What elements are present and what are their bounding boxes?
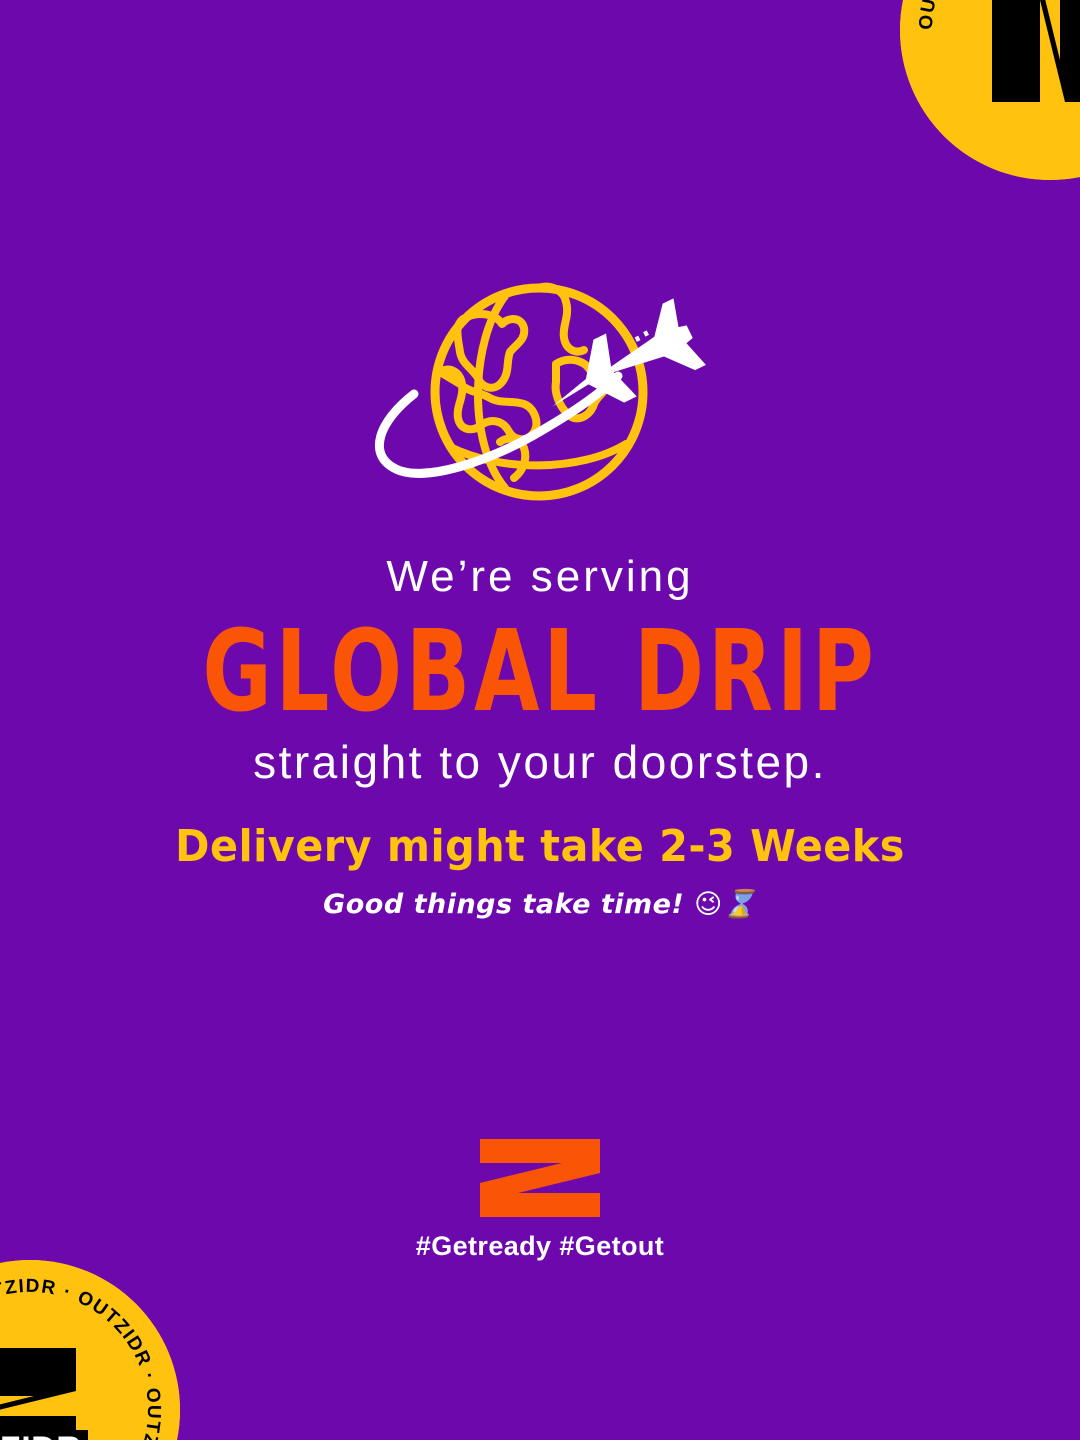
headline-main: GLOBAL DRIP [43, 611, 1037, 732]
globe-continent-west [440, 370, 536, 440]
headline-block: We’re serving GLOBAL DRIP straight to yo… [0, 552, 1080, 789]
delivery-notice: Delivery might take 2-3 Weeks Good thing… [0, 822, 1080, 921]
delivery-subtitle: Good things take time! 😉⌛ [0, 889, 1080, 921]
brand-logo-z [478, 1137, 602, 1219]
promo-poster: OUTZIDR · OUTZIDR · OUTZIDR · OUTZIDR · … [0, 0, 1080, 1440]
footer-tagline: #Getready #Getout [0, 1231, 1080, 1262]
globe-airplane-icon [350, 272, 730, 522]
footer-block: #Getready #Getout [0, 1137, 1080, 1262]
headline-subline: straight to your doorstep. [0, 736, 1080, 789]
badge-z-mark [992, 0, 1080, 102]
delivery-title: Delivery might take 2-3 Weeks [32, 822, 1047, 873]
headline-kicker: We’re serving [0, 552, 1080, 603]
brand-badge-top-right: OUTZIDR · OUTZIDR · OUTZIDR · OUTZIDR · [900, 0, 1080, 180]
brand-badge-bottom-left: OUTZIDR · OUTZIDR · OUTZIDR · OUTZIDR · … [0, 1260, 180, 1440]
badge-wordmark: OUTZIDR [0, 1430, 81, 1440]
